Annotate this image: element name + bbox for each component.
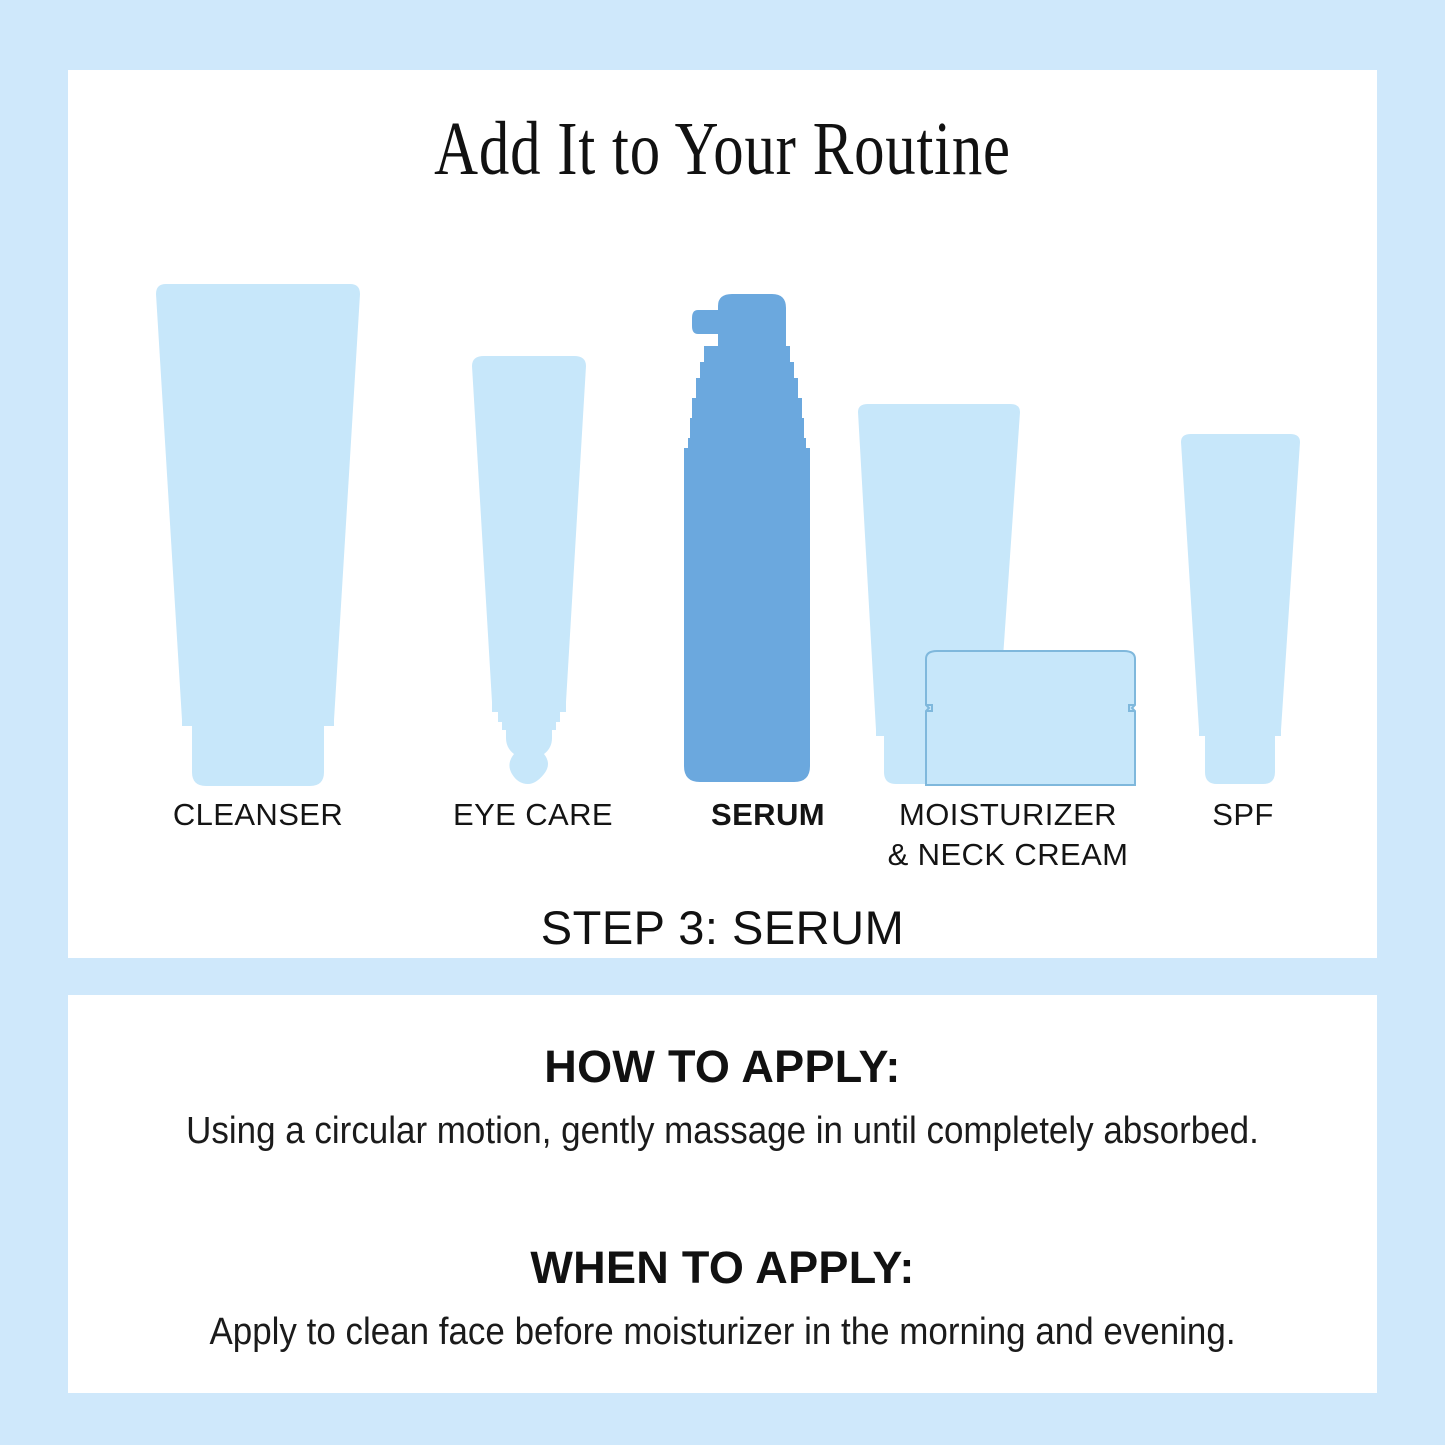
how-to-apply-heading: HOW TO APPLY: <box>68 1041 1377 1093</box>
product-label-cleanser: CLEANSER <box>123 795 393 835</box>
product-labels: CLEANSER EYE CARE SERUM MOISTURIZER & NE… <box>68 795 1377 905</box>
product-label-eye-care: EYE CARE <box>398 795 668 835</box>
when-to-apply-heading: WHEN TO APPLY: <box>68 1242 1377 1294</box>
spf-tube-icon <box>1173 430 1308 790</box>
serum-pump-bottle-icon <box>676 290 818 790</box>
infographic-page: Add It to Your Routine <box>0 0 1445 1445</box>
apply-instructions-card: HOW TO APPLY: Using a circular motion, g… <box>68 995 1377 1393</box>
page-title: Add It to Your Routine <box>199 106 1246 193</box>
product-lineup <box>68 220 1377 790</box>
neck-cream-jar-icon <box>923 645 1138 790</box>
eye-care-tube-icon <box>458 350 600 790</box>
cleanser-tube-icon <box>148 280 368 790</box>
step-caption: STEP 3: SERUM <box>68 900 1377 955</box>
when-to-apply-text: Apply to clean face before moisturizer i… <box>120 1306 1324 1360</box>
how-to-apply-text: Using a circular motion, gently massage … <box>120 1105 1324 1159</box>
product-label-serum: SERUM <box>668 795 868 835</box>
product-label-moisturizer: MOISTURIZER & NECK CREAM <box>858 795 1158 874</box>
product-label-spf: SPF <box>1158 795 1328 835</box>
routine-card: Add It to Your Routine <box>68 70 1377 958</box>
